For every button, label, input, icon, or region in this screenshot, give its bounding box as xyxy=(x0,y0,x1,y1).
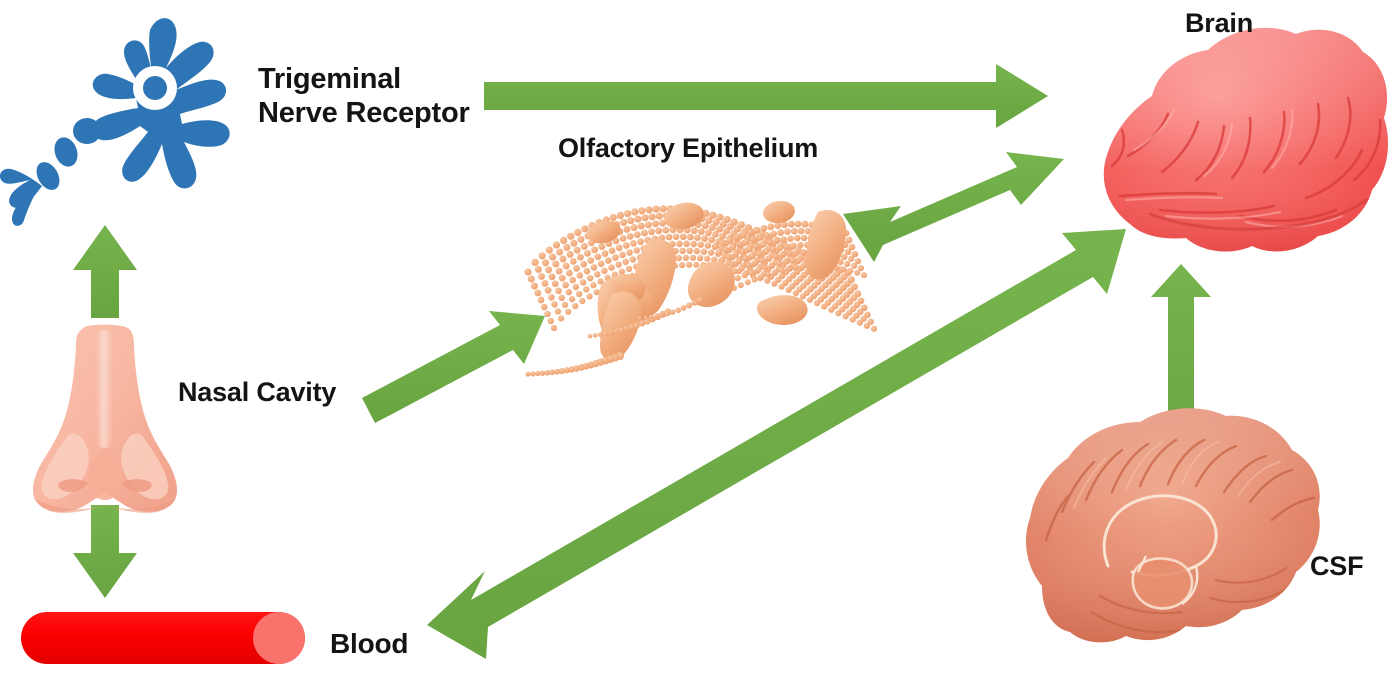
diagram-canvas: Trigeminal Nerve Receptor Olfactory Epit… xyxy=(0,0,1390,677)
label-blood: Blood xyxy=(330,627,408,660)
label-csf: CSF xyxy=(1310,551,1363,583)
arrow-epithelium-to-brain-bidirectional xyxy=(843,152,1064,262)
label-nasal-cavity: Nasal Cavity xyxy=(178,377,336,409)
arrow-blood-to-brain-bidirectional xyxy=(427,229,1126,659)
diagram-graphics xyxy=(0,0,1390,677)
label-trigeminal-nerve-receptor: Trigeminal Nerve Receptor xyxy=(258,62,470,130)
label-olfactory-epithelium: Olfactory Epithelium xyxy=(558,133,818,165)
arrow-nose-to-neuron xyxy=(73,225,137,318)
brain-sagittal-csf-illustration xyxy=(1020,395,1340,655)
label-brain: Brain xyxy=(1185,8,1253,40)
arrow-nasal-cavity-to-epithelium xyxy=(362,311,545,423)
trigeminal-neuron-illustration xyxy=(0,18,230,226)
blood-vessel-illustration xyxy=(21,612,305,664)
arrow-trigeminal-to-brain xyxy=(484,64,1048,128)
olfactory-epithelium-illustration xyxy=(524,199,877,377)
brain-lateral-illustration xyxy=(1090,20,1390,270)
nose-illustration xyxy=(33,325,177,513)
arrow-nose-to-blood xyxy=(73,505,137,598)
